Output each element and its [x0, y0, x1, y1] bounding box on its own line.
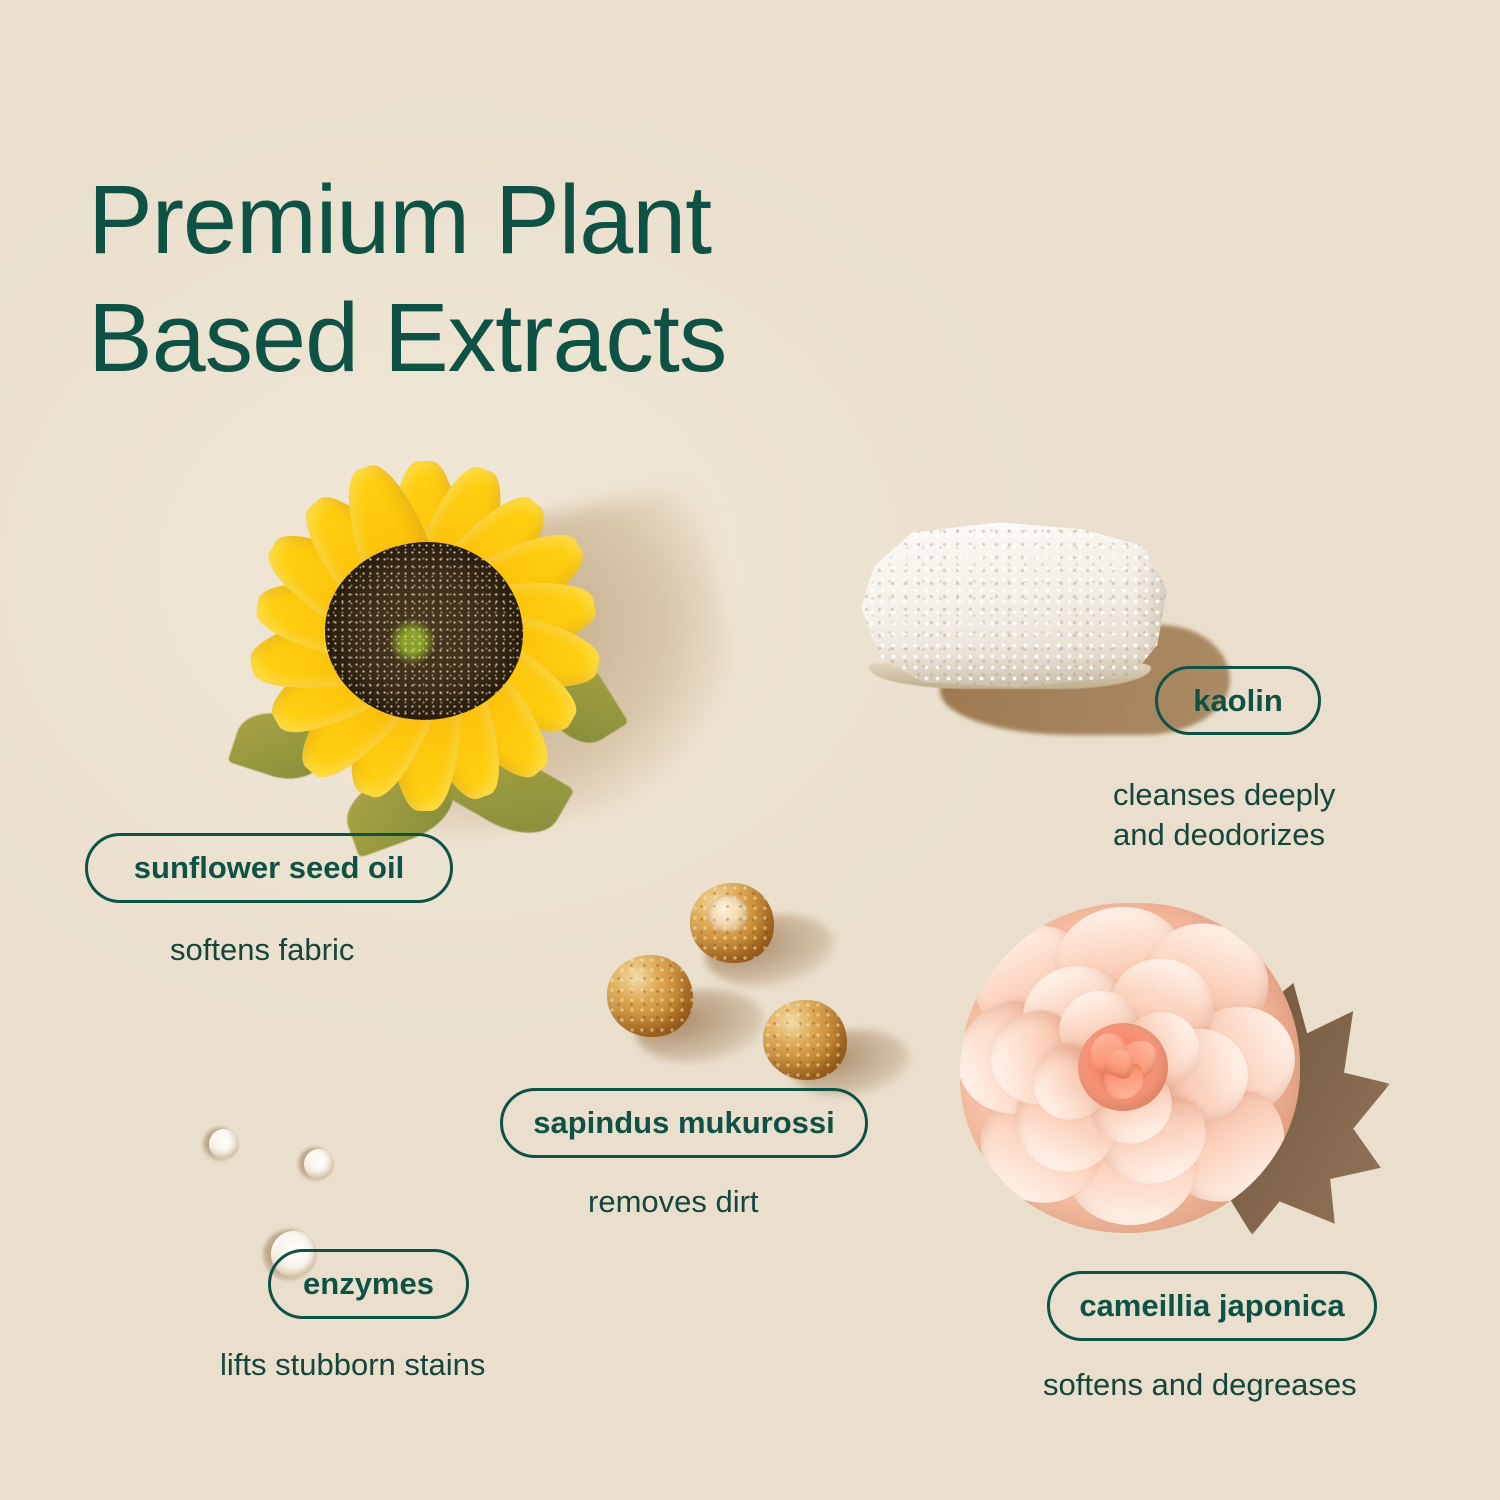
ingredient-label-text: cameillia japonica [1079, 1288, 1344, 1324]
ingredient-infographic: Premium Plant Based Extracts [0, 0, 1500, 1500]
camellia-center-bud [1078, 1023, 1168, 1111]
sunflower-petals [215, 425, 635, 845]
ingredient-label-text: sapindus mukurossi [533, 1105, 834, 1141]
ingredient-label-camellia[interactable]: cameillia japonica [1047, 1271, 1377, 1341]
ingredient-caption-camellia: softens and degreases [1043, 1365, 1357, 1405]
soap-berry [607, 955, 693, 1037]
sunflower-photo [195, 415, 695, 905]
ingredient-label-kaolin[interactable]: kaolin [1155, 666, 1321, 735]
ingredient-label-text: kaolin [1193, 683, 1283, 719]
enzyme-bead [209, 1129, 239, 1159]
camellia-bloom [960, 903, 1300, 1233]
ingredient-label-text: enzymes [303, 1266, 434, 1302]
camellia-flower-photo [960, 885, 1390, 1275]
page-title-line-1: Premium Plant [88, 161, 988, 279]
ingredient-label-text: sunflower seed oil [134, 850, 404, 886]
page-title: Premium Plant Based Extracts [88, 161, 988, 398]
ingredient-label-sapindus[interactable]: sapindus mukurossi [500, 1088, 868, 1158]
ingredient-label-sunflower[interactable]: sunflower seed oil [85, 833, 453, 903]
soap-berries-photo [585, 875, 885, 1095]
kaolin-body [855, 519, 1170, 689]
enzyme-bead [304, 1149, 334, 1179]
sunflower-seed-disc [325, 542, 523, 720]
soap-berry [763, 1000, 847, 1080]
ingredient-caption-kaolin: cleanses deeply and deodorizes [1113, 775, 1335, 856]
ingredient-caption-sapindus: removes dirt [588, 1182, 759, 1222]
soap-berry [690, 883, 774, 963]
ingredient-caption-sunflower: softens fabric [170, 930, 354, 970]
page-title-line-2: Based Extracts [88, 279, 988, 397]
ingredient-caption-enzymes: lifts stubborn stains [220, 1345, 485, 1385]
ingredient-label-enzymes[interactable]: enzymes [268, 1249, 469, 1319]
